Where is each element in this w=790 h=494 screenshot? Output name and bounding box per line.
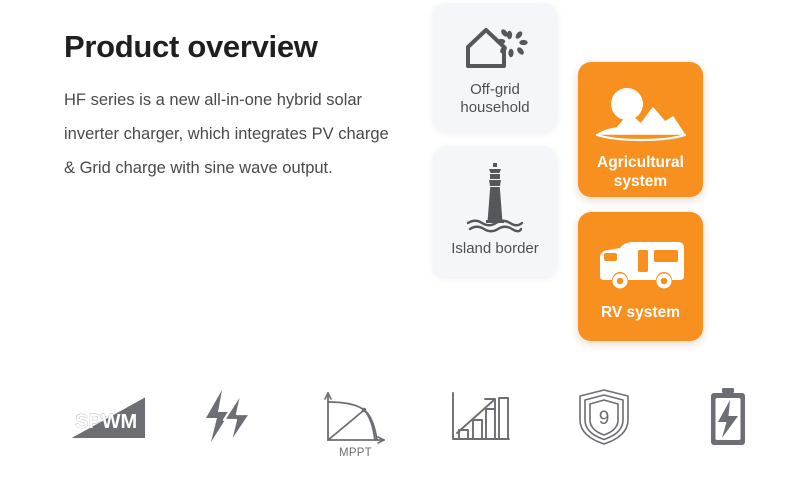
feature-item-power [169, 380, 293, 447]
mppt-curve-icon [320, 388, 390, 446]
battery-charging-icon [705, 388, 751, 446]
application-card-label: Agricultural system [597, 154, 684, 191]
rv-camper-icon [594, 236, 688, 292]
application-card-island-border[interactable]: Island border [433, 146, 557, 277]
application-card-label: Island border [451, 240, 539, 258]
feature-item-battery [666, 380, 790, 447]
feature-caption: MPPT [339, 447, 372, 459]
house-with-sun-icon [462, 19, 528, 75]
page-title: Product overview [64, 30, 404, 64]
page-description: HF series is a new all-in-one hybrid sol… [64, 84, 404, 185]
spwm-badge-text: SPWM [75, 411, 137, 433]
spwm-waveform-icon: SPWM [65, 388, 149, 446]
shield-icon: 9 [575, 388, 633, 446]
feature-icon-row: SPWM [0, 380, 790, 480]
feature-item-protection: 9 [542, 380, 666, 447]
rising-bar-chart-icon [447, 388, 513, 446]
lighthouse-icon [456, 160, 534, 236]
feature-item-mppt: MPPT [293, 380, 417, 459]
double-lightning-icon [200, 388, 262, 446]
shield-badge-text: 9 [598, 408, 609, 429]
application-card-label: RV system [601, 304, 680, 323]
feature-item-efficiency [418, 380, 542, 447]
feature-item-spwm: SPWM [45, 380, 169, 447]
sun-over-mountains-icon [595, 84, 687, 144]
product-overview-text: Product overview HF series is a new all-… [64, 30, 404, 186]
application-card-label: Off-grid household [460, 81, 529, 117]
application-card-off-grid-household[interactable]: Off-grid household [433, 3, 557, 131]
application-card-rv-system[interactable]: RV system [578, 212, 703, 341]
application-card-agricultural-system[interactable]: Agricultural system [578, 62, 703, 197]
